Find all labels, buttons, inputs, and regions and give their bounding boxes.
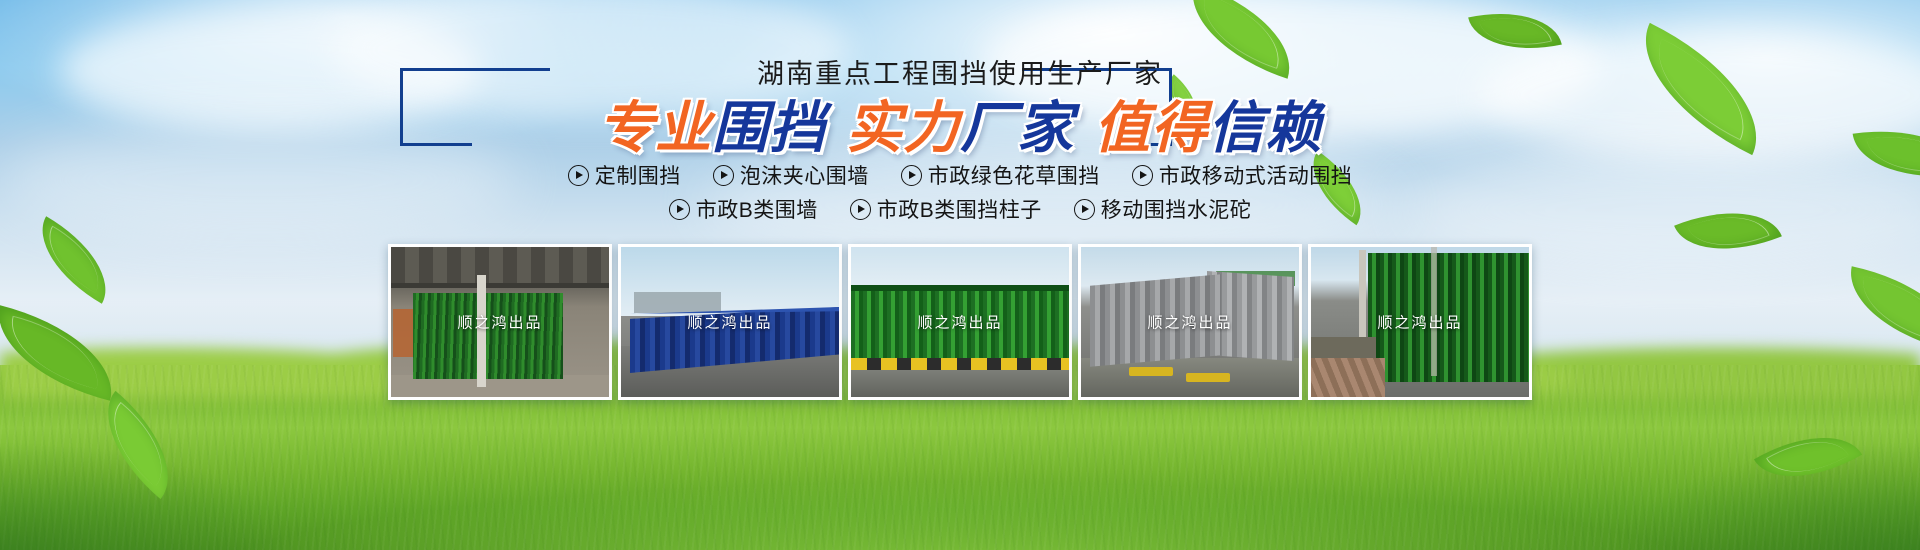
- promo-banner: 湖南重点工程围挡使用生产厂家 专业围挡实力厂家值得信赖 定制围挡 泡沫夹心围墙 …: [0, 0, 1920, 550]
- bullet-label: 市政B类围墙: [696, 194, 818, 224]
- photo-detail: [851, 358, 1069, 370]
- photo-detail: [1129, 367, 1173, 376]
- photo-watermark: 顺之鸿出品: [621, 312, 839, 333]
- banner-subtitle: 湖南重点工程围挡使用生产厂家: [0, 52, 1920, 91]
- play-circle-icon: [1132, 165, 1153, 186]
- photo-detail: [1311, 358, 1385, 397]
- photo-watermark: 顺之鸿出品: [851, 312, 1069, 333]
- photo-green-fence-brick-path[interactable]: 顺之鸿出品: [1308, 244, 1532, 400]
- photo-watermark: 顺之鸿出品: [391, 312, 609, 333]
- bullet-label: 定制围挡: [595, 160, 681, 190]
- banner-headline: 专业围挡实力厂家值得信赖: [0, 96, 1920, 160]
- bullet-label: 市政B类围挡柱子: [877, 194, 1042, 224]
- play-circle-icon: [669, 199, 690, 220]
- photo-detail: [413, 293, 563, 379]
- headline-part-2a: 实力: [846, 96, 960, 160]
- headline-part-1a: 专业: [598, 96, 712, 160]
- bullet-item: 定制围挡: [568, 160, 681, 190]
- play-circle-icon: [1074, 199, 1095, 220]
- photo-movable-grey-fence[interactable]: 顺之鸿出品: [1078, 244, 1302, 400]
- bullet-row: 定制围挡 泡沫夹心围墙 市政绿色花草围挡 市政移动式活动围挡: [0, 160, 1920, 190]
- headline-part-1b: 围挡: [712, 96, 826, 160]
- grass-shadow-right: [1490, 400, 1920, 550]
- bullet-label: 市政移动式活动围挡: [1159, 160, 1353, 190]
- photo-detail: [851, 285, 1069, 291]
- bullet-item: 市政移动式活动围挡: [1132, 160, 1353, 190]
- photo-green-fence-warehouse[interactable]: 顺之鸿出品: [388, 244, 612, 400]
- photo-green-grass-fence[interactable]: 顺之鸿出品: [848, 244, 1072, 400]
- bullet-label: 移动围挡水泥砣: [1101, 194, 1252, 224]
- headline-part-3b: 信赖: [1208, 96, 1322, 160]
- bullet-item: 市政绿色花草围挡: [901, 160, 1100, 190]
- photo-watermark: 顺之鸿出品: [1081, 312, 1299, 333]
- photo-detail: [634, 292, 721, 313]
- play-circle-icon: [713, 165, 734, 186]
- play-circle-icon: [568, 165, 589, 186]
- play-circle-icon: [850, 199, 871, 220]
- headline-part-2b: 厂家: [960, 96, 1074, 160]
- feature-bullet-list: 定制围挡 泡沫夹心围墙 市政绿色花草围挡 市政移动式活动围挡: [0, 160, 1920, 228]
- headline-group: 湖南重点工程围挡使用生产厂家 专业围挡实力厂家值得信赖 定制围挡 泡沫夹心围墙 …: [0, 0, 1920, 240]
- photo-detail: [1186, 373, 1230, 382]
- play-circle-icon: [901, 165, 922, 186]
- bullet-item: 泡沫夹心围墙: [713, 160, 869, 190]
- photo-detail: [391, 247, 609, 287]
- headline-part-3a: 值得: [1094, 96, 1208, 160]
- photo-watermark: 顺之鸿出品: [1311, 312, 1529, 333]
- grass-shadow-left: [0, 400, 430, 550]
- product-photo-strip: 顺之鸿出品 顺之鸿出品 顺之鸿出品 顺之鸿出品: [0, 244, 1920, 394]
- photo-detail: [391, 283, 609, 288]
- bullet-item: 移动围挡水泥砣: [1074, 194, 1252, 224]
- bullet-item: 市政B类围墙: [669, 194, 818, 224]
- bullet-row: 市政B类围墙 市政B类围挡柱子 移动围挡水泥砣: [0, 194, 1920, 224]
- photo-blue-fence-road[interactable]: 顺之鸿出品: [618, 244, 842, 400]
- bullet-label: 泡沫夹心围墙: [740, 160, 869, 190]
- bullet-label: 市政绿色花草围挡: [928, 160, 1100, 190]
- bullet-item: 市政B类围挡柱子: [850, 194, 1042, 224]
